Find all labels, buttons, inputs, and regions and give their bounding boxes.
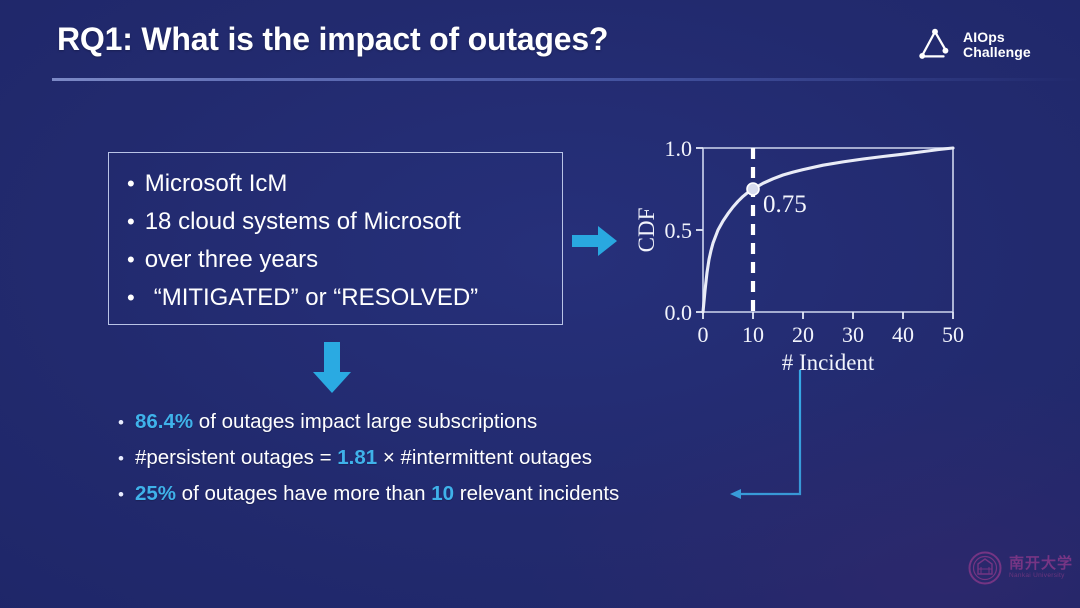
conclusion-lead: #persistent outages = xyxy=(135,446,337,469)
y-axis-label: CDF xyxy=(634,208,659,253)
nankai-university-logo: 南开大学 Nankai University xyxy=(968,551,1073,585)
list-item: • over three years xyxy=(127,241,562,279)
page-title: RQ1: What is the impact of outages? xyxy=(57,21,608,58)
dataset-fact-box: • Microsoft IcM • 18 cloud systems of Mi… xyxy=(108,152,563,325)
y-tick-label: 1.0 xyxy=(665,136,693,161)
y-tick-label: 0.5 xyxy=(665,218,693,243)
conclusions-list: • 86.4% of outages impact large subscrip… xyxy=(118,404,619,512)
x-tick-label: 40 xyxy=(892,322,914,347)
bullet-icon: • xyxy=(127,173,135,195)
conclusion-tail: × #intermittent outages xyxy=(377,446,592,469)
list-item: • 25% of outages have more than 10 relev… xyxy=(118,476,619,512)
bullet-icon: • xyxy=(127,287,135,309)
conclusion-text: #persistent outages = 1.81 × #intermitte… xyxy=(135,440,592,476)
metric-value: 1.81 xyxy=(337,446,377,469)
slide-canvas: RQ1: What is the impact of outages? AIOp… xyxy=(0,0,1080,608)
aiops-triangle-graph-icon xyxy=(916,27,954,63)
conclusion-tail: of outages impact large subscriptions xyxy=(193,410,537,433)
cdf-curve xyxy=(703,148,953,312)
bullet-icon: • xyxy=(118,414,124,431)
fact-bullet-list: • Microsoft IcM • 18 cloud systems of Mi… xyxy=(109,153,562,317)
nankai-name-cn: 南开大学 xyxy=(1009,556,1073,571)
y-tick-label: 0.0 xyxy=(665,300,693,325)
conclusion-text: 86.4% of outages impact large subscripti… xyxy=(135,404,537,440)
x-tick-label: 30 xyxy=(842,322,864,347)
aiops-logo-text: AIOps Challenge xyxy=(963,30,1031,60)
x-tick-label: 20 xyxy=(792,322,814,347)
bullet-icon: • xyxy=(118,486,124,503)
metric-value: 25% xyxy=(135,482,176,505)
list-item: • 86.4% of outages impact large subscrip… xyxy=(118,404,619,440)
aiops-logo-line2: Challenge xyxy=(963,45,1031,60)
aiops-logo-line1: AIOps xyxy=(963,30,1031,45)
list-item: • #persistent outages = 1.81 × #intermit… xyxy=(118,440,619,476)
x-tick-label: 10 xyxy=(742,322,764,347)
aiops-challenge-logo: AIOps Challenge xyxy=(916,27,1031,63)
bullet-icon: • xyxy=(127,211,135,233)
title-divider xyxy=(52,78,1080,81)
metric-value: 86.4% xyxy=(135,410,193,433)
nankai-university-seal-icon xyxy=(968,551,1002,585)
cdf-annotation-label: 0.75 xyxy=(763,191,807,218)
elbow-arrow-icon xyxy=(720,368,830,508)
fact-bullet-label: 18 cloud systems of Microsoft xyxy=(145,203,461,241)
conclusion-text: 25% of outages have more than 10 relevan… xyxy=(135,476,619,512)
fact-bullet-label: Microsoft IcM xyxy=(145,165,288,203)
bullet-icon: • xyxy=(127,249,135,271)
cdf-chart: 1.0 0.5 0.0 0 10 20 30 40 50 # Incident … xyxy=(614,130,984,380)
x-tick-label: 50 xyxy=(942,322,964,347)
metric-value: 10 xyxy=(431,482,454,505)
list-item: • 18 cloud systems of Microsoft xyxy=(127,203,562,241)
list-item: • “MITIGATED” or “RESOLVED” xyxy=(127,279,562,317)
arrow-down-icon xyxy=(310,342,354,394)
nankai-logo-text: 南开大学 Nankai University xyxy=(1009,556,1073,580)
arrow-right-icon xyxy=(572,224,618,258)
conclusion-bullet-list: • 86.4% of outages impact large subscrip… xyxy=(118,404,619,512)
list-item: • Microsoft IcM xyxy=(127,165,562,203)
cdf-marker-point xyxy=(747,183,759,195)
conclusion-tail: relevant incidents xyxy=(454,482,619,505)
fact-bullet-label: over three years xyxy=(145,241,318,279)
cdf-chart-svg: 1.0 0.5 0.0 0 10 20 30 40 50 # Incident … xyxy=(614,130,984,380)
fact-bullet-label: “MITIGATED” or “RESOLVED” xyxy=(145,279,478,317)
bullet-icon: • xyxy=(118,450,124,467)
nankai-name-en: Nankai University xyxy=(1009,571,1073,580)
conclusion-mid: of outages have more than xyxy=(176,482,431,505)
x-tick-label: 0 xyxy=(698,322,709,347)
